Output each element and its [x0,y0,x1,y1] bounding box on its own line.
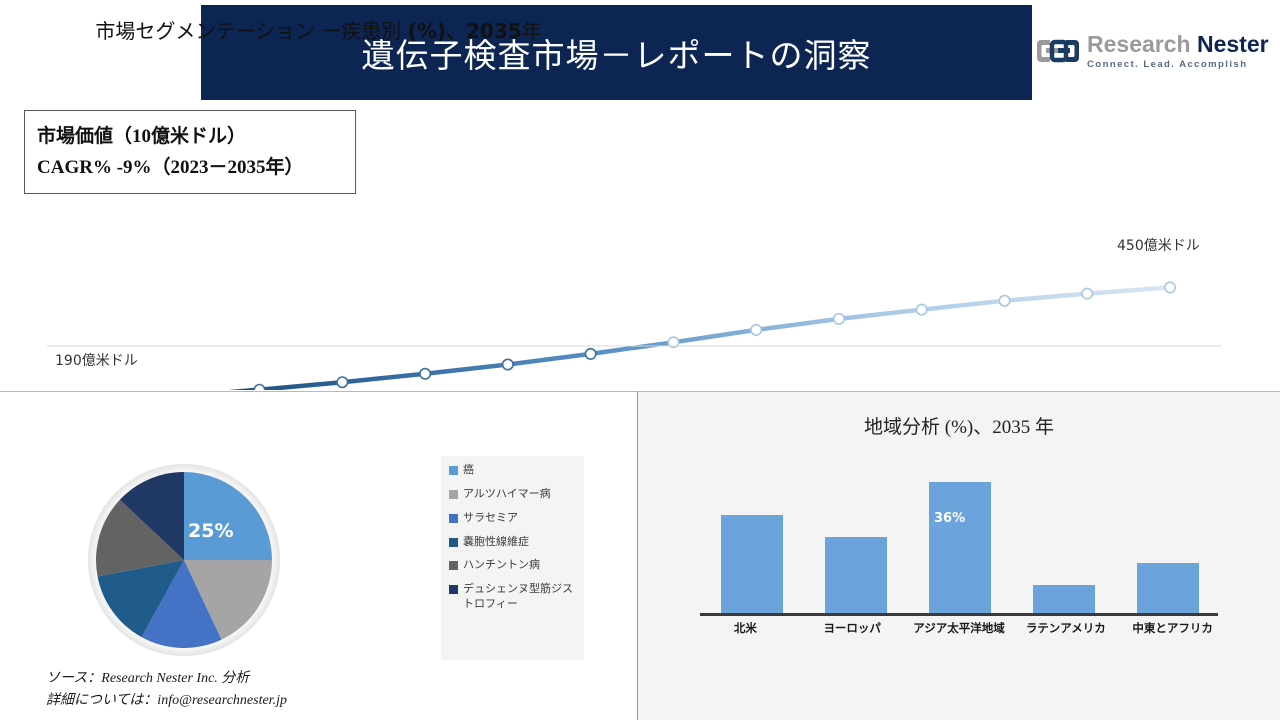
pie-chart-title: 市場セグメンテーション ー疾患別 (%)、2035年 [0,15,637,44]
legend-swatch-icon [449,538,458,547]
bar-column [929,467,991,615]
legend-item: 嚢胞性線維症 [449,535,578,550]
legend-swatch-icon [449,490,458,499]
legend-swatch-icon [449,514,458,523]
bar-rect [1033,585,1095,615]
line-marker [917,304,927,314]
line-marker [834,314,844,324]
bar-column [1033,467,1095,615]
source-note: ソース：Research Nester Inc. 分析 詳細については：info… [46,668,287,711]
chain-link-icon [1036,36,1080,66]
bar-chart-plot [700,465,1220,615]
slide-root: 遺伝子検査市場－レポートの洞察 Research Nester Connect.… [0,0,1280,720]
legend-item: ハンチントン病 [449,558,578,573]
bar-x-axis-tick: ラテンアメリカ [1012,620,1119,636]
pie-title-plain: 市場セグメンテーション ー疾患別 [95,19,407,43]
legend-item: アルツハイマー病 [449,487,578,502]
bar-rect [929,482,991,615]
legend-swatch-icon [449,466,458,475]
line-marker [1165,282,1175,292]
legend-label: サラセミア [463,511,518,526]
bar-column [1137,467,1199,615]
pie-chart [84,460,284,660]
line-marker [420,369,430,379]
pie-data-label: 25% [188,520,233,542]
line-chart-section: 市場価値（10億米ドル） CAGR% -9%（2023－2035年） 190億米… [0,105,1280,390]
pie-chart-plot [84,460,284,660]
legend-item: 癌 [449,463,578,478]
legend-label: アルツハイマー病 [463,487,551,502]
brand-logo: Research Nester Connect. Lead. Accomplis… [1036,20,1268,82]
line-marker [337,377,347,387]
logo-name-research: Research [1087,31,1191,57]
bar-x-axis-tick: 北米 [692,620,799,636]
pie-legend: 癌アルツハイマー病サラセミア嚢胞性線維症ハンチントン病デュシェンヌ型筋ジストロフ… [441,456,584,660]
bar-rect [1137,563,1199,615]
bar-x-axis-tick: アジア太平洋地域 [906,620,1013,636]
bar-column [721,467,783,615]
legend-label: 嚢胞性線維症 [463,535,529,550]
logo-name: Research Nester [1087,33,1269,56]
legend-label: デュシェンヌ型筋ジストロフィー [463,582,578,612]
bar-chart-baseline [700,613,1218,616]
legend-item: デュシェンヌ型筋ジストロフィー [449,582,578,612]
line-marker [503,359,513,369]
bar-rect [721,515,783,615]
bar-chart-x-axis: 北米ヨーロッパアジア太平洋地域ラテンアメリカ中東とアフリカ [692,620,1226,636]
legend-swatch-icon [449,561,458,570]
source-line-1: ソース：Research Nester Inc. 分析 [46,668,287,690]
pie-slice [184,472,272,560]
bar-x-axis-tick: 中東とアフリカ [1119,620,1226,636]
pie-title-tail: 年 [522,19,542,43]
logo-tagline: Connect. Lead. Accomplish [1087,60,1269,70]
logo-wordmark: Research Nester Connect. Lead. Accomplis… [1087,33,1269,70]
line-chart-plot [0,105,1280,390]
bar-data-label: 36% [934,511,965,526]
legend-swatch-icon [449,585,458,594]
line-marker [999,296,1009,306]
legend-label: ハンチントン病 [463,558,540,573]
legend-label: 癌 [463,463,474,478]
panel-divider-vertical [637,391,638,720]
bar-rect [825,537,887,615]
source-line-2: 詳細については：info@researchnester.jp [46,690,287,712]
line-marker [254,385,264,391]
logo-name-nester: Nester [1197,31,1269,57]
line-marker [751,325,761,335]
bar-column [825,467,887,615]
pie-title-bold: (%)、2035 [408,19,522,43]
bar-x-axis-tick: ヨーロッパ [799,620,906,636]
line-marker [1082,288,1092,298]
bar-chart-title: 地域分析 (%)、2035 年 [638,412,1280,439]
line-marker [585,349,595,359]
legend-item: サラセミア [449,511,578,526]
